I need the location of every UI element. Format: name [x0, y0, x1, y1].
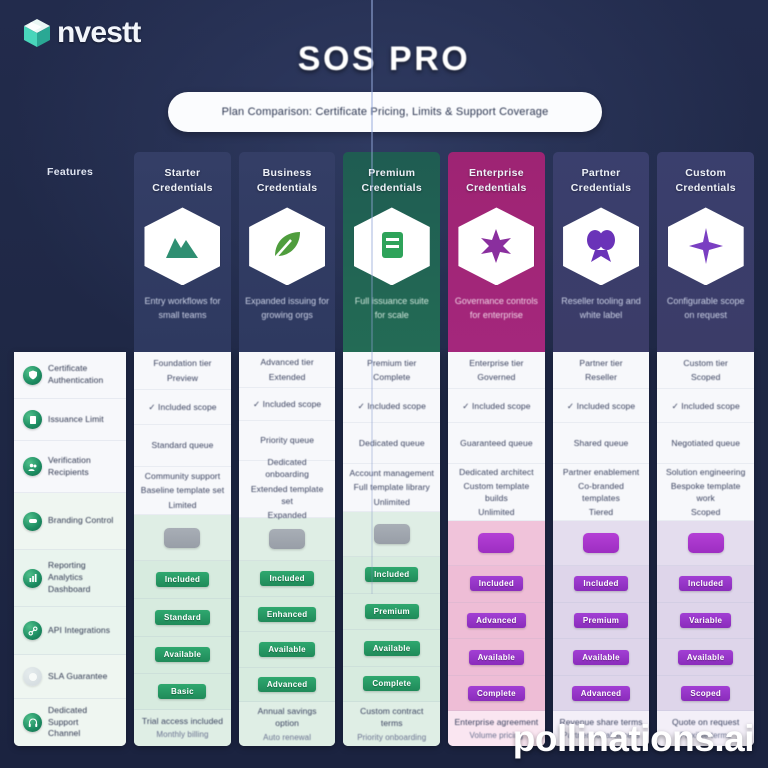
- plan-custom-badge-cell: Variable: [657, 603, 754, 640]
- plan-starter-badge[interactable]: Available: [155, 647, 211, 662]
- plan-starter-badge[interactable]: Basic: [158, 684, 206, 699]
- plan-premium-badge[interactable]: Complete: [363, 676, 420, 691]
- plan-custom-cell: Negotiated queue: [657, 423, 754, 464]
- plan-business-title: BusinessCredentials: [257, 166, 318, 196]
- plan-enterprise-badge[interactable]: Advanced: [467, 613, 526, 628]
- plan-enterprise-cell: Enterprise tierGoverned: [448, 352, 545, 389]
- feature-row[interactable]: SLA Guarantee: [14, 655, 126, 699]
- plan-partner-title: PartnerCredentials: [571, 166, 632, 196]
- plan-starter-toggle-chip[interactable]: [164, 528, 200, 548]
- plan-partner-cell: Shared queue: [553, 423, 650, 464]
- plan-starter-subtitle: Entry workflows forsmall teams: [144, 295, 220, 322]
- plan-enterprise-badge-cell: Included: [448, 566, 545, 603]
- plan-starter-body: Foundation tierPreview✓ Included scopeSt…: [134, 352, 231, 746]
- plan-partner-badge[interactable]: Premium: [574, 613, 628, 628]
- plan-business-toggle-chip[interactable]: [269, 529, 305, 549]
- feature-row-label: Dedicated SupportChannel: [48, 705, 118, 741]
- mountain-icon: [144, 207, 220, 285]
- plan-business-badge-cell: Available: [239, 632, 336, 668]
- plan-business-badge[interactable]: Enhanced: [258, 607, 317, 622]
- plan-partner-badge[interactable]: Included: [574, 576, 627, 591]
- feature-row[interactable]: Reporting AnalyticsDashboard: [14, 550, 126, 607]
- plan-business-cell: ✓ Included scope: [239, 388, 336, 421]
- plan-business-header: BusinessCredentials Expanded issuing for…: [239, 152, 336, 352]
- plan-business-badge[interactable]: Available: [259, 642, 315, 657]
- plan-premium-toggle-chip[interactable]: [374, 524, 410, 544]
- plan-premium-toggle-cell[interactable]: [343, 512, 440, 557]
- feature-row-label: Reporting AnalyticsDashboard: [48, 560, 118, 596]
- plan-partner-badge-cell: Premium: [553, 603, 650, 640]
- plan-custom-subtitle: Configurable scopeon request: [667, 295, 745, 322]
- feature-row-label: CertificateAuthentication: [48, 363, 103, 387]
- plan-custom-column[interactable]: CustomCredentials Configurable scopeon r…: [657, 152, 754, 746]
- plan-premium-body: Premium tierComplete✓ Included scopeDedi…: [343, 352, 440, 746]
- plan-enterprise-cell-line: Custom template builds: [454, 480, 539, 505]
- plan-starter-cell: Foundation tierPreview: [134, 352, 231, 390]
- plan-partner-subtitle: Reseller tooling andwhite label: [561, 295, 641, 322]
- feature-row-label: SLA Guarantee: [48, 671, 107, 683]
- plan-partner-icon-badge: [563, 207, 639, 285]
- feature-row[interactable]: API Integrations: [14, 607, 126, 655]
- feature-row[interactable]: CertificateAuthentication: [14, 352, 126, 399]
- plan-business-cell: Priority queue: [239, 421, 336, 461]
- plan-starter-header: StarterCredentials Entry workflows forsm…: [134, 152, 231, 352]
- plan-business-cell-line: Priority queue: [260, 434, 314, 446]
- plan-custom-badge-cell: Available: [657, 639, 754, 676]
- plan-partner-cell-line: Tiered: [589, 506, 613, 518]
- plan-custom-cell-line: Solution engineering: [666, 466, 746, 478]
- plan-premium-cell-line: Full template library: [354, 481, 430, 493]
- plan-enterprise-icon-badge: [458, 207, 534, 285]
- star-burst-icon: [458, 207, 534, 285]
- plan-premium-cell: Dedicated queue: [343, 423, 440, 464]
- plan-premium-cell-line: Dedicated queue: [359, 437, 425, 449]
- plan-premium-footer-line: Custom contract terms: [349, 705, 434, 730]
- plan-business-badge[interactable]: Included: [260, 571, 313, 586]
- plan-premium-badge-cell: Premium: [343, 594, 440, 631]
- plan-starter-toggle-cell[interactable]: [134, 515, 231, 561]
- plan-starter-footer-cell: Trial access included Monthly billing: [134, 710, 231, 746]
- plan-partner-badge-cell: Included: [553, 566, 650, 603]
- plan-business-cell-line: Extended: [269, 371, 306, 383]
- ribbon-icon: [563, 207, 639, 285]
- plan-premium-cell-line: Premium tier: [367, 357, 416, 369]
- plan-premium-cell-line: Account management: [350, 467, 435, 479]
- plan-starter-footer-line: Monthly billing: [156, 729, 208, 741]
- plan-starter-badge-cell: Included: [134, 561, 231, 599]
- plan-partner-cell: ✓ Included scope: [553, 389, 650, 423]
- plan-business-cell: Dedicated onboardingExtended template se…: [239, 461, 336, 518]
- plan-custom-cell-line: Scoped: [691, 506, 720, 518]
- feature-column-header: Features: [14, 152, 126, 352]
- plan-enterprise-badge[interactable]: Included: [470, 576, 523, 591]
- plan-business-column[interactable]: BusinessCredentials Expanded issuing for…: [239, 152, 336, 746]
- leaf-icon: [249, 207, 325, 285]
- feature-row[interactable]: Dedicated SupportChannel: [14, 699, 126, 746]
- feature-row[interactable]: VerificationRecipients: [14, 441, 126, 493]
- plan-custom-cell-line: ✓ Included scope: [672, 400, 740, 412]
- plan-starter-column[interactable]: StarterCredentials Entry workflows forsm…: [134, 152, 231, 746]
- plan-enterprise-title: EnterpriseCredentials: [466, 166, 527, 196]
- plan-partner-badge-cell: Available: [553, 639, 650, 676]
- plan-business-cell-line: Expanded: [268, 509, 307, 521]
- plan-starter-cell-line: Preview: [167, 372, 198, 384]
- plan-custom-cell-line: Scoped: [691, 371, 720, 383]
- plan-business-cell-line: Extended template set: [245, 483, 330, 508]
- plan-enterprise-badge-cell: Advanced: [448, 603, 545, 640]
- plan-enterprise-badge-cell: Available: [448, 639, 545, 676]
- plan-enterprise-toggle-cell[interactable]: [448, 521, 545, 566]
- chart-icon: [23, 569, 42, 588]
- plan-premium-footer-line: Priority onboarding: [357, 732, 426, 744]
- plan-business-badge[interactable]: Advanced: [258, 677, 317, 692]
- plan-premium-header: PremiumCredentials Full issuance suitefo…: [343, 152, 440, 352]
- pricing-comparison-table: Features CertificateAuthentication Issua…: [14, 152, 754, 746]
- plan-enterprise-cell-line: Enterprise tier: [469, 357, 523, 369]
- plan-premium-badge[interactable]: Available: [364, 641, 420, 656]
- plan-business-body: Advanced tierExtended✓ Included scopePri…: [239, 352, 336, 746]
- plan-starter-cell-line: Baseline template set: [141, 484, 224, 496]
- plan-custom-header: CustomCredentials Configurable scopeon r…: [657, 152, 754, 352]
- plan-business-cell-line: ✓ Included scope: [253, 398, 321, 410]
- plan-enterprise-column[interactable]: EnterpriseCredentials Governance control…: [448, 152, 545, 746]
- plan-enterprise-cell: ✓ Included scope: [448, 389, 545, 423]
- plan-starter-cell-line: ✓ Included scope: [148, 401, 216, 413]
- plan-starter-cell: ✓ Included scope: [134, 390, 231, 424]
- plan-enterprise-badge-cell: Complete: [448, 676, 545, 711]
- headset-icon: [23, 713, 42, 732]
- feature-row-label: Branding Control: [48, 515, 113, 527]
- plan-starter-cell-line: Standard queue: [152, 439, 214, 451]
- plan-enterprise-cell-line: ✓ Included scope: [462, 400, 530, 412]
- plan-business-footer-line: Auto renewal: [263, 732, 311, 744]
- plan-business-badge-cell: Included: [239, 561, 336, 597]
- plan-enterprise-cell-line: Governed: [477, 371, 515, 383]
- plan-business-cell-line: Advanced tier: [260, 356, 313, 368]
- plan-partner-cell: Partner enablementCo-branded templatesTi…: [553, 464, 650, 521]
- plan-enterprise-cell-line: Guaranteed queue: [460, 437, 533, 449]
- plan-custom-badge-cell: Included: [657, 566, 754, 603]
- link-icon: [23, 621, 42, 640]
- plan-premium-subtitle: Full issuance suitefor scale: [355, 295, 429, 322]
- plan-premium-footer-cell: Custom contract terms Priority onboardin…: [343, 702, 440, 746]
- plan-partner-badge[interactable]: Advanced: [572, 686, 631, 701]
- feature-column: Features CertificateAuthentication Issua…: [14, 152, 126, 746]
- subtitle-text: Plan Comparison: Certificate Pricing, Li…: [222, 106, 549, 118]
- users-icon: [23, 457, 42, 476]
- plan-custom-cell-line: Custom tier: [683, 357, 728, 369]
- plan-premium-cell-line: ✓ Included scope: [358, 400, 426, 412]
- clock-icon: [23, 667, 42, 686]
- feature-column-header-label: Features: [47, 166, 93, 178]
- plan-premium-icon-badge: [354, 207, 430, 285]
- plan-enterprise-subtitle: Governance controlsfor enterprise: [455, 295, 538, 322]
- plan-premium-cell: ✓ Included scope: [343, 389, 440, 423]
- feature-row-label: Issuance Limit: [48, 414, 104, 426]
- plan-enterprise-cell-line: Unlimited: [478, 506, 514, 518]
- plan-partner-body: Partner tierReseller✓ Included scopeShar…: [553, 352, 650, 746]
- badge-icon: [354, 207, 430, 285]
- plan-custom-cell: ✓ Included scope: [657, 389, 754, 423]
- document-icon: [23, 410, 42, 429]
- plan-business-badge-cell: Enhanced: [239, 597, 336, 633]
- plan-business-icon-badge: [249, 207, 325, 285]
- plan-enterprise-cell-line: Dedicated architect: [459, 466, 534, 478]
- plan-partner-cell-line: Shared queue: [574, 437, 629, 449]
- plan-custom-cell: Solution engineeringBespoke template wor…: [657, 464, 754, 521]
- sparkle-icon: [668, 207, 744, 285]
- plan-starter-cell: Standard queue: [134, 425, 231, 467]
- plan-starter-cell-line: Limited: [168, 499, 196, 511]
- watermark: pollinations.ai: [513, 718, 754, 760]
- plan-premium-cell-line: Complete: [373, 371, 410, 383]
- plan-custom-badge[interactable]: Variable: [680, 613, 731, 628]
- plan-premium-badge[interactable]: Included: [365, 567, 418, 582]
- plan-premium-badge-cell: Available: [343, 630, 440, 667]
- plan-partner-cell-line: ✓ Included scope: [567, 400, 635, 412]
- plan-starter-title: StarterCredentials: [152, 166, 213, 196]
- plan-partner-badge[interactable]: Available: [573, 650, 629, 665]
- plan-custom-cell-line: Negotiated queue: [671, 437, 740, 449]
- plan-enterprise-badge[interactable]: Complete: [468, 686, 525, 701]
- plan-business-cell: Advanced tierExtended: [239, 352, 336, 388]
- plan-starter-badge-cell: Available: [134, 637, 231, 675]
- plan-partner-toggle-chip[interactable]: [583, 533, 619, 553]
- plan-business-footer-line: Annual savings option: [245, 705, 330, 730]
- plan-custom-icon-badge: [668, 207, 744, 285]
- feature-row[interactable]: Branding Control: [14, 493, 126, 550]
- plan-starter-cell-line: Foundation tier: [153, 357, 211, 369]
- plan-business-footer-cell: Annual savings option Auto renewal: [239, 702, 336, 746]
- plan-custom-badge[interactable]: Included: [679, 576, 732, 591]
- plan-partner-column[interactable]: PartnerCredentials Reseller tooling andw…: [553, 152, 650, 746]
- plan-custom-badge-cell: Scoped: [657, 676, 754, 711]
- plan-premium-cell-line: Unlimited: [374, 496, 410, 508]
- plan-premium-badge-cell: Complete: [343, 667, 440, 702]
- plan-starter-cell: Community supportBaseline template setLi…: [134, 467, 231, 515]
- plan-partner-badge-cell: Advanced: [553, 676, 650, 711]
- plan-premium-badge-cell: Included: [343, 557, 440, 594]
- toggle-icon: [23, 512, 42, 531]
- plan-enterprise-body: Enterprise tierGoverned✓ Included scopeG…: [448, 352, 545, 746]
- plan-business-toggle-cell[interactable]: [239, 518, 336, 562]
- plan-partner-cell-line: Reseller: [585, 371, 617, 383]
- plan-business-cell-line: Dedicated onboarding: [245, 456, 330, 481]
- plan-partner-cell-line: Partner enablement: [563, 466, 639, 478]
- plan-group-divider: [371, 0, 373, 594]
- plan-enterprise-badge[interactable]: Available: [469, 650, 525, 665]
- plan-starter-badge-cell: Standard: [134, 599, 231, 637]
- plan-starter-footer-line: Trial access included: [142, 715, 223, 727]
- plan-custom-title: CustomCredentials: [675, 166, 736, 196]
- plan-custom-badge[interactable]: Scoped: [681, 686, 730, 701]
- plan-business-subtitle: Expanded issuing forgrowing orgs: [245, 295, 329, 322]
- plan-custom-badge[interactable]: Available: [678, 650, 734, 665]
- plan-partner-header: PartnerCredentials Reseller tooling andw…: [553, 152, 650, 352]
- plan-premium-column[interactable]: PremiumCredentials Full issuance suitefo…: [343, 152, 440, 746]
- plan-custom-toggle-chip[interactable]: [688, 533, 724, 553]
- plan-custom-cell: Custom tierScoped: [657, 352, 754, 389]
- subtitle-banner: Plan Comparison: Certificate Pricing, Li…: [168, 92, 602, 132]
- plan-business-badge-cell: Advanced: [239, 668, 336, 702]
- plan-enterprise-cell: Dedicated architectCustom template build…: [448, 464, 545, 521]
- plan-enterprise-header: EnterpriseCredentials Governance control…: [448, 152, 545, 352]
- plan-partner-cell-line: Partner tier: [579, 357, 622, 369]
- plan-enterprise-cell: Guaranteed queue: [448, 423, 545, 464]
- feature-row[interactable]: Issuance Limit: [14, 399, 126, 441]
- plan-starter-badge[interactable]: Included: [156, 572, 209, 587]
- plan-starter-icon-badge: [144, 207, 220, 285]
- plan-starter-badge-cell: Basic: [134, 674, 231, 710]
- page-title: SOS PRO: [0, 40, 768, 79]
- feature-list: CertificateAuthentication Issuance Limit…: [14, 352, 126, 746]
- plan-premium-badge[interactable]: Premium: [365, 604, 419, 619]
- plan-partner-cell-line: Co-branded templates: [559, 480, 644, 505]
- plan-partner-cell: Partner tierReseller: [553, 352, 650, 389]
- plan-premium-cell: Account managementFull template libraryU…: [343, 464, 440, 512]
- feature-row-label: VerificationRecipients: [48, 455, 91, 479]
- plan-enterprise-toggle-chip[interactable]: [478, 533, 514, 553]
- plan-custom-toggle-cell[interactable]: [657, 521, 754, 566]
- plan-custom-body: Custom tierScoped✓ Included scopeNegotia…: [657, 352, 754, 746]
- feature-row-label: API Integrations: [48, 625, 110, 637]
- plan-premium-cell: Premium tierComplete: [343, 352, 440, 389]
- plan-custom-cell-line: Bespoke template work: [663, 480, 748, 505]
- plan-starter-badge[interactable]: Standard: [155, 610, 210, 625]
- plan-partner-toggle-cell[interactable]: [553, 521, 650, 566]
- plan-starter-cell-line: Community support: [145, 470, 220, 482]
- shield-check-icon: [23, 366, 42, 385]
